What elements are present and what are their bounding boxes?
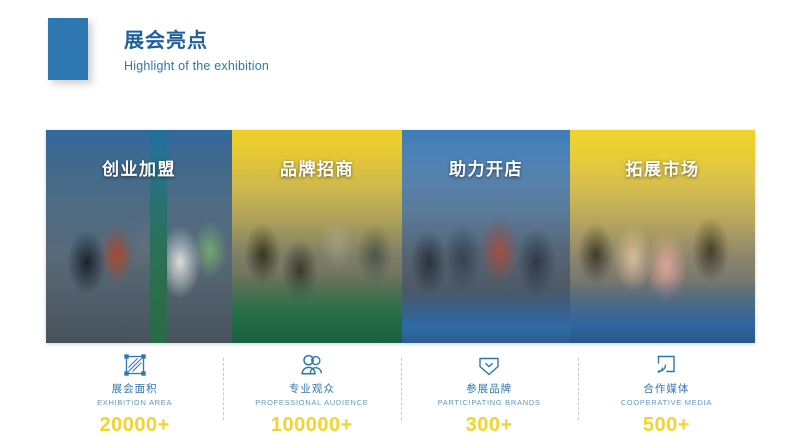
panel-label-2: 品牌招商 [232,155,402,180]
stat-value: 300+ [466,412,513,438]
stats-row: 展会面积 EXHIBITION AREA 20000+ 专业观众 PROFESS… [46,352,755,444]
panel-label-3: 助力开店 [402,155,570,180]
stat-label-en: PROFESSIONAL AUDIENCE [255,397,368,409]
banner-strip: 创业加盟 品牌招商 助力开店 拓展市场 一站式服务平台！ [46,130,755,343]
banner-panel-4[interactable]: 拓展市场 [570,130,755,343]
stat-value: 20000+ [99,412,169,438]
area-square-icon [122,352,148,378]
stat-value: 100000+ [271,412,353,438]
panel-label-1: 创业加盟 [46,155,232,180]
stat-label-cn: 专业观众 [289,382,335,396]
shield-check-icon [476,352,502,378]
panel-label-4: 拓展市场 [570,155,755,180]
stat-item-professional-audience: 专业观众 PROFESSIONAL AUDIENCE 100000+ [223,352,400,444]
banner-panel-1[interactable]: 创业加盟 [46,130,232,343]
banner-panel-3[interactable]: 助力开店 [402,130,570,343]
stat-item-exhibition-area: 展会面积 EXHIBITION AREA 20000+ [46,352,223,444]
banner-panel-2[interactable]: 品牌招商 [232,130,402,343]
stat-label-en: PARTICIPATING BRANDS [438,397,541,409]
page-title: 展会亮点 [124,28,269,54]
stat-value: 500+ [643,412,690,438]
stat-label-cn: 合作媒体 [643,382,689,396]
stat-item-cooperative-media: 合作媒体 COOPERATIVE MEDIA 500+ [578,352,755,444]
blue-accent-bar-icon [48,18,88,80]
stat-label-en: EXHIBITION AREA [97,397,172,409]
slide-root: 展会亮点 Highlight of the exhibition 创业加盟 品牌… [0,0,800,448]
page-subtitle: Highlight of the exhibition [124,58,269,75]
users-icon [299,352,325,378]
stat-label-cn: 展会面积 [112,382,158,396]
stat-label-cn: 参展品牌 [466,382,512,396]
media-broadcast-icon [653,352,679,378]
header: 展会亮点 Highlight of the exhibition [0,0,800,110]
stat-label-en: COOPERATIVE MEDIA [621,397,712,409]
header-text-group: 展会亮点 Highlight of the exhibition [124,28,269,75]
stat-item-participating-brands: 参展品牌 PARTICIPATING BRANDS 300+ [401,352,578,444]
